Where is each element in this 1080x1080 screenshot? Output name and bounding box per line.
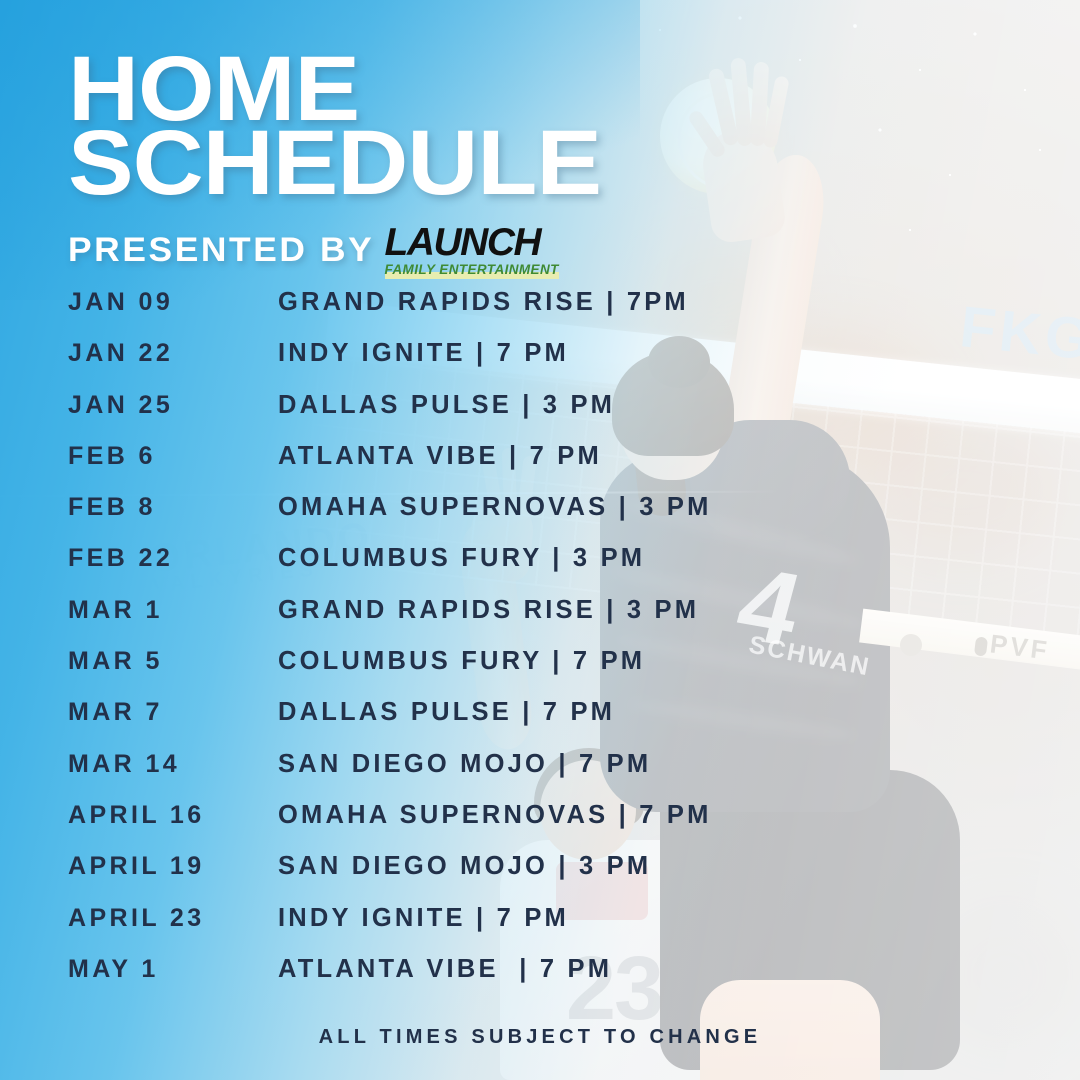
- sponsor-tagline: FAMILY ENTERTAINMENT: [385, 262, 559, 279]
- game-date: MAR 7: [68, 698, 278, 727]
- sponsor-logo: LAUNCH FAMILY ENTERTAINMENT: [385, 222, 559, 279]
- game-date: FEB 8: [68, 493, 278, 522]
- schedule-row: MAR 1 GRAND RAPIDS RISE | 3 PM: [68, 596, 1008, 647]
- game-matchup: INDY IGNITE | 7 PM: [278, 339, 569, 368]
- presented-by-label: PRESENTED BY: [68, 231, 374, 270]
- game-matchup: OMAHA SUPERNOVAS | 7 PM: [278, 801, 712, 830]
- game-date: APRIL 23: [68, 904, 278, 933]
- schedule-row: JAN 25 DALLAS PULSE | 3 PM: [68, 391, 1008, 442]
- game-matchup: DALLAS PULSE | 3 PM: [278, 391, 615, 420]
- schedule-row: APRIL 19 SAN DIEGO MOJO | 3 PM: [68, 852, 1008, 903]
- game-matchup: SAN DIEGO MOJO | 7 PM: [278, 750, 651, 779]
- schedule-row: JAN 22 INDY IGNITE | 7 PM: [68, 339, 1008, 390]
- game-date: MAR 5: [68, 647, 278, 676]
- game-date: JAN 09: [68, 288, 278, 317]
- sponsor-tagline-wrap: FAMILY ENTERTAINMENT: [385, 262, 559, 279]
- schedule-row: MAY 1 ATLANTA VIBE | 7 PM: [68, 955, 1008, 1006]
- game-matchup: ATLANTA VIBE | 7 PM: [278, 955, 612, 984]
- game-matchup: ATLANTA VIBE | 7 PM: [278, 442, 602, 471]
- game-matchup: OMAHA SUPERNOVAS | 3 PM: [278, 493, 712, 522]
- game-matchup: INDY IGNITE | 7 PM: [278, 904, 569, 933]
- game-date: MAR 1: [68, 596, 278, 625]
- page-title: HOME SCHEDULE: [68, 52, 601, 200]
- disclaimer-note: ALL TIMES SUBJECT TO CHANGE: [0, 1026, 1080, 1049]
- game-date: FEB 6: [68, 442, 278, 471]
- schedule-row: FEB 6 ATLANTA VIBE | 7 PM: [68, 442, 1008, 493]
- game-matchup: COLUMBUS FURY | 7 PM: [278, 647, 645, 676]
- game-date: APRIL 19: [68, 852, 278, 881]
- sponsor-name: LAUNCH: [385, 224, 559, 261]
- game-matchup: SAN DIEGO MOJO | 3 PM: [278, 852, 651, 881]
- schedule-list: JAN 09 GRAND RAPIDS RISE | 7PM JAN 22 IN…: [68, 288, 1008, 1006]
- poster-content: HOME SCHEDULE PRESENTED BY LAUNCH FAMILY…: [0, 0, 1080, 1080]
- game-date: APRIL 16: [68, 801, 278, 830]
- schedule-row: MAR 7 DALLAS PULSE | 7 PM: [68, 698, 1008, 749]
- home-schedule-poster: ORLANDO VALKYRIES FKG 23 4 SCHWAN: [0, 0, 1080, 1080]
- schedule-row: MAR 5 COLUMBUS FURY | 7 PM: [68, 647, 1008, 698]
- game-date: JAN 22: [68, 339, 278, 368]
- presented-by-row: PRESENTED BY LAUNCH FAMILY ENTERTAINMENT: [68, 222, 559, 279]
- schedule-row: MAR 14 SAN DIEGO MOJO | 7 PM: [68, 750, 1008, 801]
- game-matchup: COLUMBUS FURY | 3 PM: [278, 544, 645, 573]
- schedule-row: APRIL 16 OMAHA SUPERNOVAS | 7 PM: [68, 801, 1008, 852]
- game-date: FEB 22: [68, 544, 278, 573]
- schedule-row: FEB 8 OMAHA SUPERNOVAS | 3 PM: [68, 493, 1008, 544]
- schedule-row: FEB 22 COLUMBUS FURY | 3 PM: [68, 544, 1008, 595]
- schedule-row: JAN 09 GRAND RAPIDS RISE | 7PM: [68, 288, 1008, 339]
- schedule-row: APRIL 23 INDY IGNITE | 7 PM: [68, 904, 1008, 955]
- game-matchup: GRAND RAPIDS RISE | 3 PM: [278, 596, 699, 625]
- game-date: MAR 14: [68, 750, 278, 779]
- game-date: JAN 25: [68, 391, 278, 420]
- game-matchup: DALLAS PULSE | 7 PM: [278, 698, 615, 727]
- page-title-line2: SCHEDULE: [68, 126, 601, 200]
- game-matchup: GRAND RAPIDS RISE | 7PM: [278, 288, 689, 317]
- game-date: MAY 1: [68, 955, 278, 984]
